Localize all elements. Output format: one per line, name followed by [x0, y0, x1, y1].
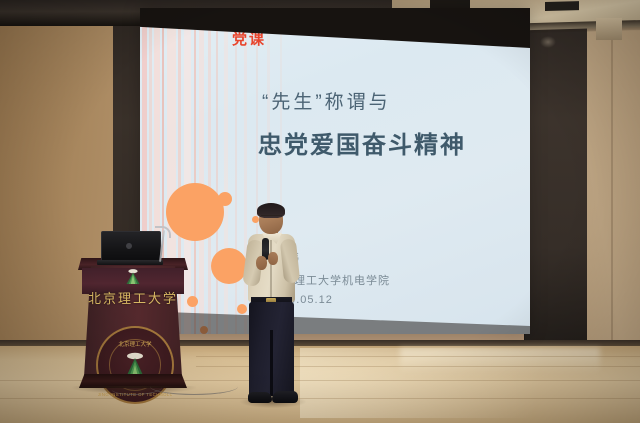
speaker-left-hand: [256, 256, 267, 270]
slide-accent-circle: [237, 304, 247, 314]
podium-university-name: 北京理工大学: [84, 288, 182, 307]
screen-bottom-bezel: [140, 311, 530, 334]
podium-crest-icon: [123, 268, 143, 285]
slide-stripe: [208, 8, 211, 334]
ceiling-beam-end-block: [596, 18, 622, 40]
ceiling-fixture-2: [545, 1, 579, 11]
projection-screen: 党课 “先生”称谓与 忠党爱国奋斗精神 伟 京理工大学机电学院 19.05.12: [140, 8, 530, 334]
slide-title-line-2: 忠党爱国奋斗精神: [258, 125, 466, 160]
slide-accent-circle: [252, 216, 259, 223]
floor-reflection: [400, 348, 600, 374]
speaker-right-hand: [268, 252, 278, 265]
slide-stripe: [216, 8, 218, 334]
right-panel-highlight: [540, 36, 556, 48]
slide-title-line-1: “先生”称谓与: [262, 87, 391, 114]
slide-stripe: [244, 8, 247, 334]
right-wall-seam: [611, 0, 613, 340]
speaker-right-shoe: [272, 391, 298, 403]
speaker-shirt-placket: [270, 240, 272, 298]
lecture-hall-photo: 党课 “先生”称谓与 忠党爱国奋斗精神 伟 京理工大学机电学院 19.05.12…: [0, 0, 640, 423]
floor-cable: [150, 378, 238, 395]
slide-accent-circle: [166, 183, 224, 241]
svg-text:北京理工大学: 北京理工大学: [118, 340, 152, 348]
laptop-logo-icon: [126, 243, 132, 249]
slide-stripe: [199, 8, 204, 334]
slide-accent-circle: [211, 248, 247, 284]
slide-accent-circle: [187, 296, 198, 307]
right-dark-panel: [524, 24, 587, 342]
speaker-glasses-icon: [261, 215, 282, 221]
slide-accent-circle: [218, 192, 232, 206]
slide-stripe: [184, 8, 191, 334]
slide-stripe: [194, 8, 196, 334]
laptop-base: [97, 260, 163, 265]
speaker-left-shoe: [248, 392, 272, 403]
slide-stripe: [235, 8, 237, 334]
floor-plank-line: [0, 398, 640, 399]
speaker-leg-gap: [270, 330, 273, 396]
slide-stripe: [224, 8, 228, 334]
